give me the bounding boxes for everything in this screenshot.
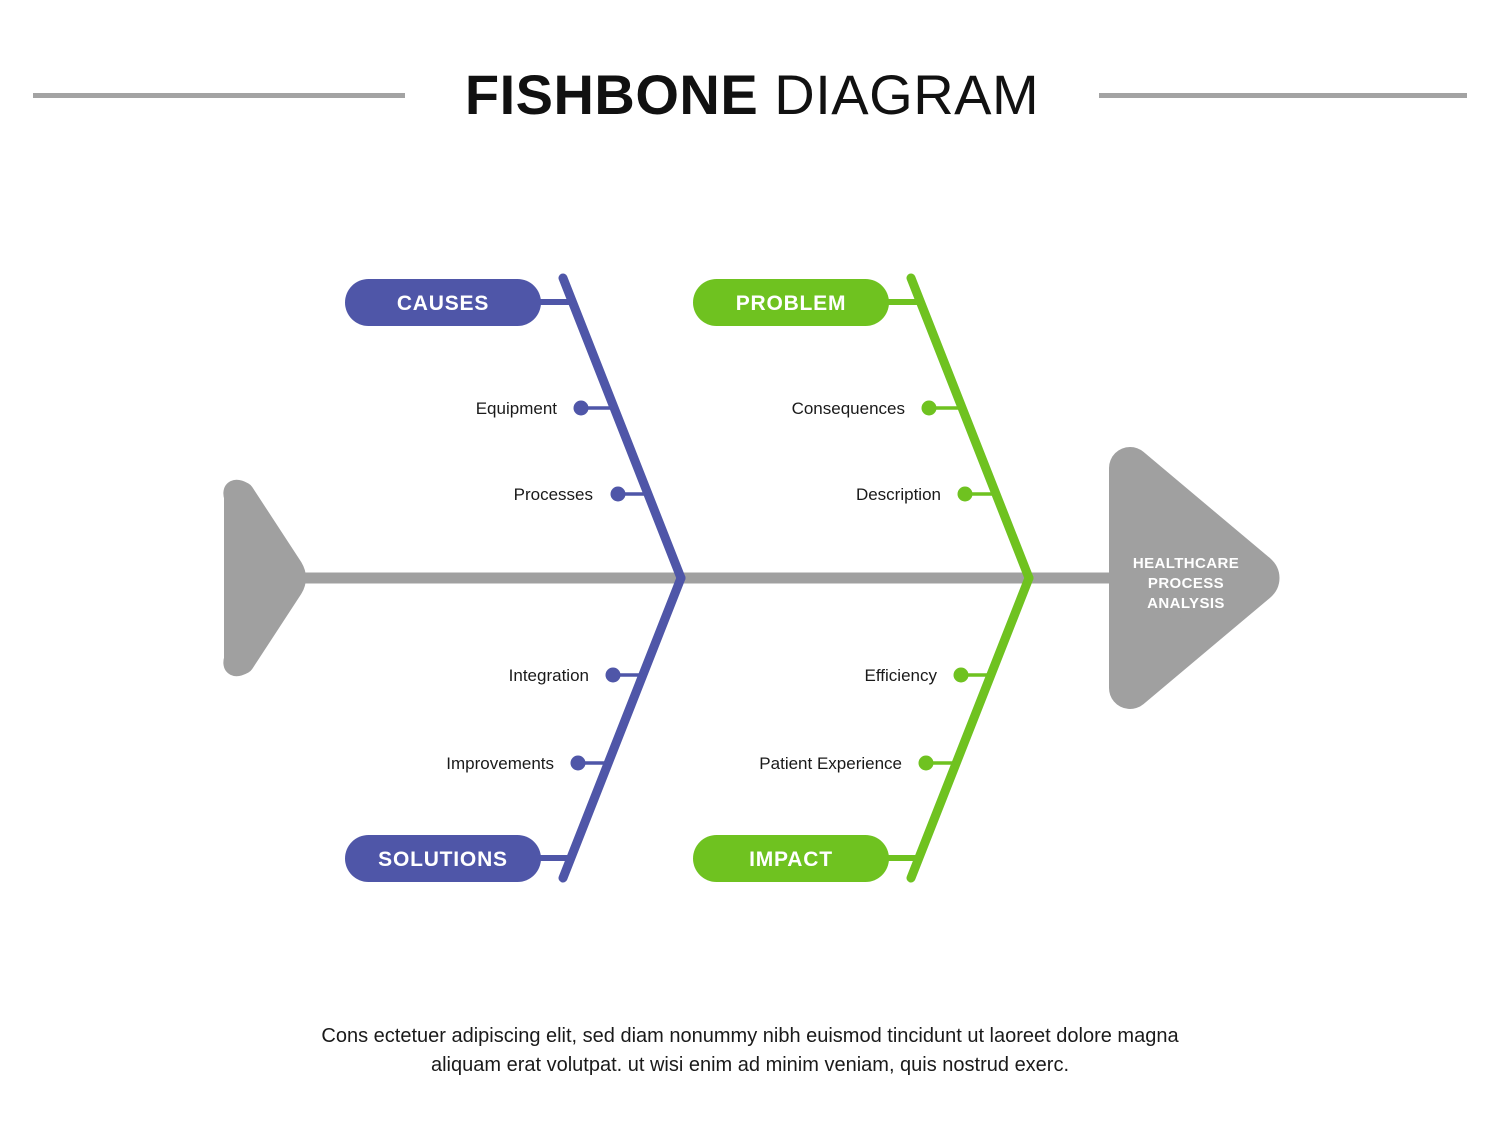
head-label-line2: PROCESS <box>1148 575 1224 592</box>
fishbone-svg: HEALTHCARE PROCESS ANALYSIS CAUSES SOLUT… <box>0 0 1500 1125</box>
branch-label-patient-experience: Patient Experience <box>759 754 902 773</box>
branch-label-description: Description <box>856 485 941 504</box>
category-pill-label-impact: IMPACT <box>749 848 833 871</box>
bone-causes <box>563 278 681 578</box>
branch-dot-efficiency[interactable] <box>954 668 969 683</box>
category-pill-label-causes: CAUSES <box>397 292 489 315</box>
branch-dot-equipment[interactable] <box>574 401 589 416</box>
branch-label-consequences: Consequences <box>792 399 905 418</box>
bone-impact <box>911 578 1029 878</box>
category-pill-label-solutions: SOLUTIONS <box>378 848 508 871</box>
branch-dot-description[interactable] <box>958 487 973 502</box>
bone-problem <box>911 278 1029 578</box>
branch-label-integration: Integration <box>509 666 589 685</box>
branch-dot-patient-experience[interactable] <box>919 756 934 771</box>
branch-label-equipment: Equipment <box>476 399 558 418</box>
footer-caption: Cons ectetuer adipiscing elit, sed diam … <box>0 1022 1500 1080</box>
head-label-line3: ANALYSIS <box>1147 595 1225 612</box>
branch-dot-improvements[interactable] <box>571 756 586 771</box>
bone-solutions <box>563 578 681 878</box>
fish-tail-shape <box>234 491 295 666</box>
branch-label-processes: Processes <box>514 485 593 504</box>
footer-caption-line1: Cons ectetuer adipiscing elit, sed diam … <box>0 1022 1500 1051</box>
branch-label-efficiency: Efficiency <box>865 666 938 685</box>
category-pill-label-problem: PROBLEM <box>736 292 847 315</box>
footer-caption-line2: aliquam erat volutpat. ut wisi enim ad m… <box>0 1051 1500 1080</box>
branch-label-improvements: Improvements <box>446 754 554 773</box>
head-label-line1: HEALTHCARE <box>1133 555 1239 572</box>
branch-dot-consequences[interactable] <box>922 401 937 416</box>
branch-dot-processes[interactable] <box>611 487 626 502</box>
branch-dot-integration[interactable] <box>606 668 621 683</box>
fishbone-diagram-page: FISHBONE DIAGRAM HEALTHCARE PROCESS ANAL… <box>0 0 1500 1125</box>
